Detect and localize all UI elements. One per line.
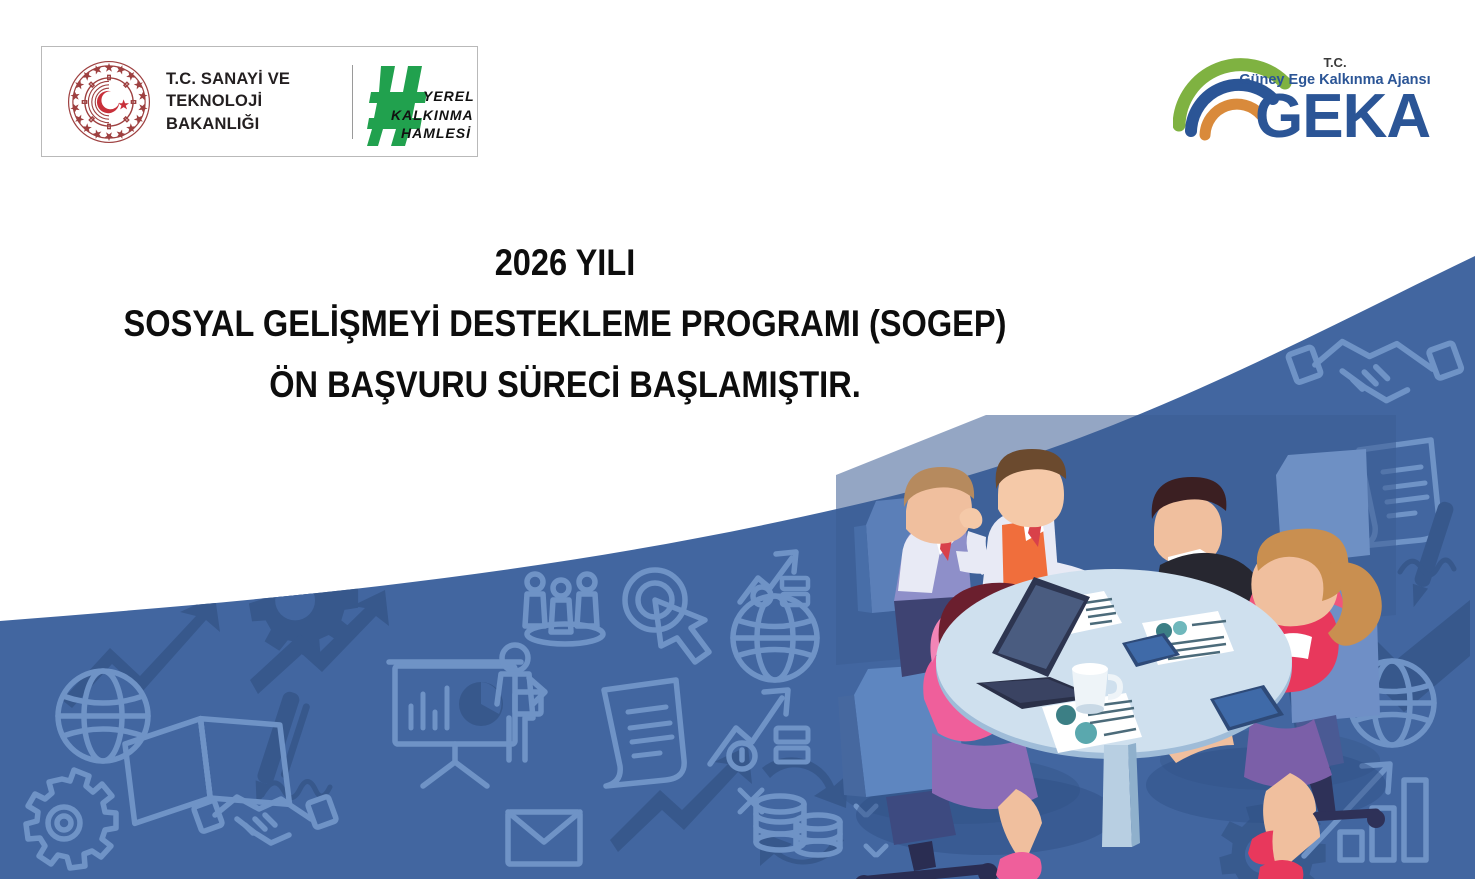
logo-divider (352, 65, 353, 139)
svg-text:YEREL: YEREL (423, 88, 475, 104)
yerel-kalkinma-hamlesi-logo: YEREL KALKINMA HAMLESİ (367, 58, 477, 146)
svg-text:KALKINMA: KALKINMA (391, 107, 474, 123)
ministry-logo-text: T.C. SANAYİ VE TEKNOLOJİ BAKANLIĞI (166, 68, 334, 135)
turkish-ministry-seal-icon (66, 59, 152, 145)
geka-arc-orange (1205, 104, 1261, 135)
business-meeting-illustration (836, 415, 1396, 879)
ministry-title-line2: TEKNOLOJİ BAKANLIĞI (166, 92, 262, 132)
page-title: 2026 YILI SOSYAL GELİŞMEYİ DESTEKLEME PR… (0, 244, 1130, 403)
geka-logo: T.C. Güney Ege Kalkınma Ajansı GEKA (1173, 47, 1445, 145)
headline-line-3: ÖN BAŞVURU SÜRECİ BAŞLAMIŞTIR. (68, 366, 1062, 403)
headline-line-1: 2026 YILI (68, 244, 1062, 281)
poster-canvas: T.C. SANAYİ VE TEKNOLOJİ BAKANLIĞI YEREL… (0, 0, 1475, 879)
ministry-title-line1: T.C. SANAYİ VE (166, 70, 290, 88)
headline-line-2: SOSYAL GELİŞMEYİ DESTEKLEME PROGRAMI (SO… (68, 305, 1062, 342)
svg-text:HAMLESİ: HAMLESİ (401, 125, 471, 141)
geka-tc-label: T.C. (1323, 55, 1346, 70)
geka-wordmark: GEKA (1255, 82, 1430, 145)
ministry-logo: T.C. SANAYİ VE TEKNOLOJİ BAKANLIĞI YEREL… (41, 46, 478, 157)
